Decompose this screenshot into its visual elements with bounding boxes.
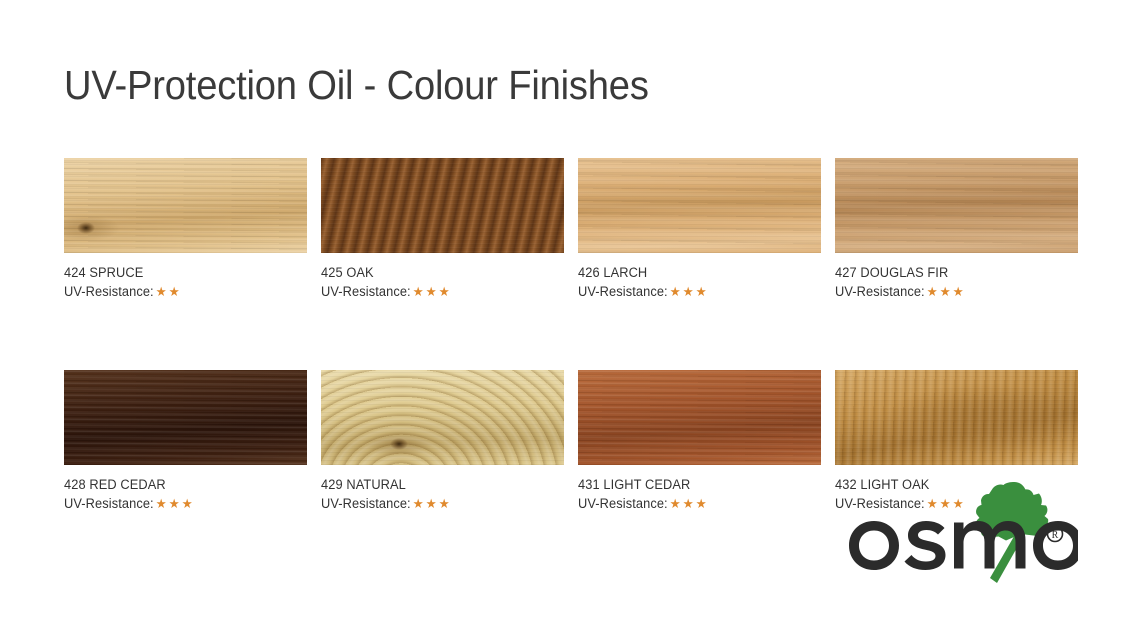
wood-knot xyxy=(321,370,564,465)
uv-resistance-stars: ★★★ xyxy=(668,496,707,511)
star-icon: ★ xyxy=(182,497,193,510)
swatch-card[interactable]: 424 SPRUCEUV-Resistance:★★ xyxy=(64,158,307,301)
swatch-card[interactable]: 431 LIGHT CEDARUV-Resistance:★★★ xyxy=(578,370,821,513)
wood-grain-overlay xyxy=(835,370,1078,465)
swatch-card[interactable]: 425 OAKUV-Resistance:★★★ xyxy=(321,158,564,301)
slide-canvas: UV-Protection Oil - Colour Finishes 424 … xyxy=(0,0,1140,640)
uv-resistance-label: UV-Resistance: xyxy=(64,284,154,299)
uv-resistance-label: UV-Resistance: xyxy=(321,496,411,511)
wood-grain-overlay xyxy=(578,158,821,253)
uv-resistance-label: UV-Resistance: xyxy=(835,284,925,299)
star-icon: ★ xyxy=(683,285,694,298)
star-icon: ★ xyxy=(439,285,450,298)
uv-resistance-stars: ★★★ xyxy=(411,496,450,511)
swatch-name: 427 DOUGLAS FIR xyxy=(835,264,1066,283)
wood-grain-overlay xyxy=(321,158,564,253)
star-icon: ★ xyxy=(940,285,951,298)
star-icon: ★ xyxy=(927,285,938,298)
star-icon: ★ xyxy=(953,285,964,298)
star-icon: ★ xyxy=(696,285,707,298)
star-icon: ★ xyxy=(683,497,694,510)
wood-swatch-424[interactable] xyxy=(64,158,307,253)
star-icon: ★ xyxy=(670,285,681,298)
wood-swatch-431[interactable] xyxy=(578,370,821,465)
wood-grain-overlay xyxy=(64,370,307,465)
star-icon: ★ xyxy=(426,497,437,510)
star-icon: ★ xyxy=(156,285,167,298)
star-icon: ★ xyxy=(426,285,437,298)
star-icon: ★ xyxy=(696,497,707,510)
wood-grain-overlay xyxy=(64,158,307,253)
star-icon: ★ xyxy=(670,497,681,510)
uv-resistance-row: UV-Resistance:★★ xyxy=(64,283,295,302)
uv-resistance-label: UV-Resistance: xyxy=(321,284,411,299)
star-icon: ★ xyxy=(169,285,180,298)
wood-swatch-425[interactable] xyxy=(321,158,564,253)
svg-text:R: R xyxy=(1052,530,1059,541)
wood-grain-overlay xyxy=(835,158,1078,253)
swatch-name: 429 NATURAL xyxy=(321,476,552,495)
uv-resistance-row: UV-Resistance:★★★ xyxy=(578,283,809,302)
swatch-name: 428 RED CEDAR xyxy=(64,476,295,495)
wood-swatch-429[interactable] xyxy=(321,370,564,465)
page-title: UV-Protection Oil - Colour Finishes xyxy=(64,62,649,109)
uv-resistance-stars: ★★★ xyxy=(668,284,707,299)
wood-swatch-426[interactable] xyxy=(578,158,821,253)
wood-swatch-428[interactable] xyxy=(64,370,307,465)
uv-resistance-label: UV-Resistance: xyxy=(578,496,668,511)
uv-resistance-label: UV-Resistance: xyxy=(64,496,154,511)
swatch-name: 424 SPRUCE xyxy=(64,264,295,283)
uv-resistance-stars: ★★★ xyxy=(154,496,193,511)
swatch-name: 425 OAK xyxy=(321,264,552,283)
star-icon: ★ xyxy=(439,497,450,510)
uv-resistance-stars: ★★★ xyxy=(411,284,450,299)
star-icon: ★ xyxy=(156,497,167,510)
wood-knot xyxy=(64,158,307,253)
uv-resistance-row: UV-Resistance:★★★ xyxy=(321,283,552,302)
uv-resistance-row: UV-Resistance:★★★ xyxy=(835,283,1066,302)
swatch-name: 431 LIGHT CEDAR xyxy=(578,476,809,495)
star-icon: ★ xyxy=(169,497,180,510)
swatch-card[interactable]: 427 DOUGLAS FIRUV-Resistance:★★★ xyxy=(835,158,1078,301)
osmo-wordmark xyxy=(849,521,1078,570)
swatch-name: 426 LARCH xyxy=(578,264,809,283)
swatch-card[interactable]: 429 NATURALUV-Resistance:★★★ xyxy=(321,370,564,513)
star-icon: ★ xyxy=(413,497,424,510)
wood-grain-overlay xyxy=(578,370,821,465)
osmo-logo: R xyxy=(846,474,1078,586)
colour-finish-grid: 424 SPRUCEUV-Resistance:★★425 OAKUV-Resi… xyxy=(64,158,1078,514)
star-icon: ★ xyxy=(413,285,424,298)
osmo-logo-svg: R xyxy=(846,474,1078,586)
swatch-card[interactable]: 428 RED CEDARUV-Resistance:★★★ xyxy=(64,370,307,513)
swatch-card[interactable]: 426 LARCHUV-Resistance:★★★ xyxy=(578,158,821,301)
wood-swatch-432[interactable] xyxy=(835,370,1078,465)
uv-resistance-row: UV-Resistance:★★★ xyxy=(321,495,552,514)
uv-resistance-stars: ★★★ xyxy=(925,284,964,299)
uv-resistance-row: UV-Resistance:★★★ xyxy=(578,495,809,514)
uv-resistance-stars: ★★ xyxy=(154,284,180,299)
wood-swatch-427[interactable] xyxy=(835,158,1078,253)
uv-resistance-label: UV-Resistance: xyxy=(578,284,668,299)
uv-resistance-row: UV-Resistance:★★★ xyxy=(64,495,295,514)
wood-grain-overlay xyxy=(321,370,564,465)
